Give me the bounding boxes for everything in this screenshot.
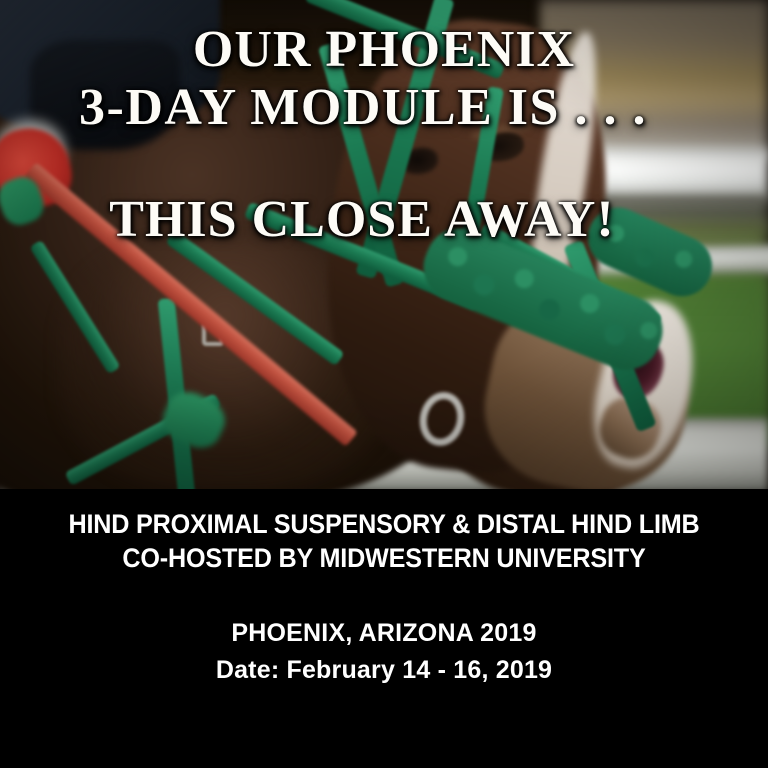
event-cohost: CO-HOSTED BY MIDWESTERN UNIVERSITY [19,541,749,575]
info-band: HIND PROXIMAL SUSPENSORY & DISTAL HIND L… [0,489,768,768]
event-promo-poster: OUR PHOENIX 3-DAY MODULE IS . . . THIS C… [0,0,768,768]
event-location: PHOENIX, ARIZONA 2019 [0,617,768,649]
horse-photo [0,0,768,489]
event-date: Date: February 14 - 16, 2019 [0,654,768,686]
event-title: HIND PROXIMAL SUSPENSORY & DISTAL HIND L… [19,507,749,541]
